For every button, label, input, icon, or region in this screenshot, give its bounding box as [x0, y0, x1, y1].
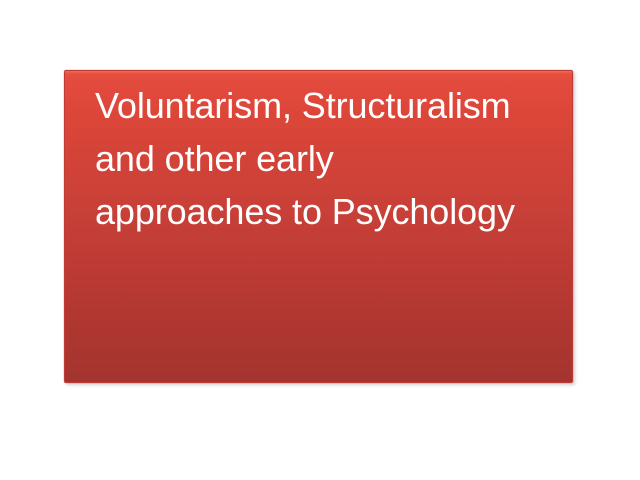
slide-canvas: Voluntarism, Structuralism and other ear…	[0, 0, 640, 480]
slide-title[interactable]: Voluntarism, Structuralism and other ear…	[95, 79, 566, 238]
title-line-2: and other early	[95, 132, 566, 185]
title-panel[interactable]: Voluntarism, Structuralism and other ear…	[64, 70, 573, 383]
title-line-1: Voluntarism, Structuralism	[95, 79, 566, 132]
title-line-3: approaches to Psychology	[95, 185, 566, 238]
